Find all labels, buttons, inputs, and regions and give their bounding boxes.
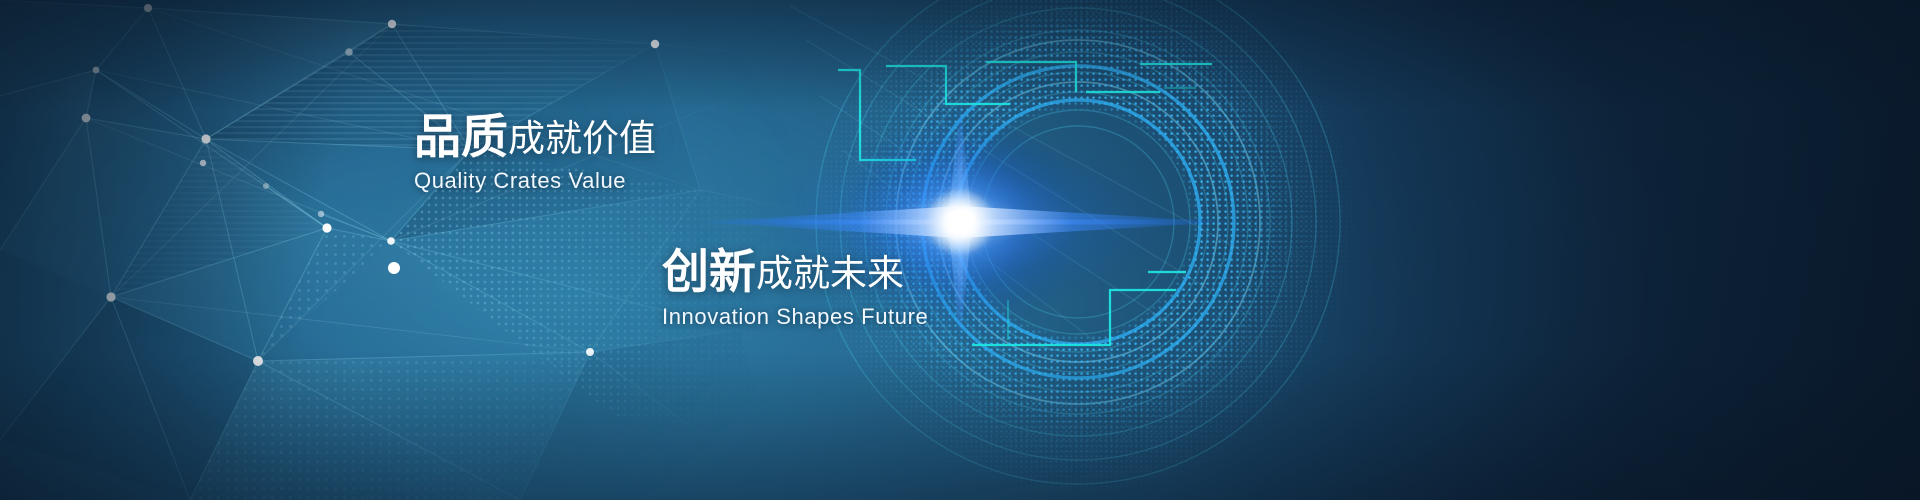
slogan-quality-subline: Quality Crates Value <box>414 168 656 194</box>
slogan-quality-headline-light: 成就价值 <box>508 118 656 159</box>
background-top-shade <box>0 0 1920 500</box>
slogan-innovation-headline-strong: 创新 <box>662 245 756 298</box>
slogan-innovation-subline: Innovation Shapes Future <box>662 304 928 330</box>
slogan-quality-headline: 品质成就价值 <box>414 113 656 160</box>
slogan-quality: 品质成就价值 Quality Crates Value <box>414 113 656 194</box>
slogan-innovation-headline: 创新成就未来 <box>662 248 928 295</box>
slogan-quality-headline-strong: 品质 <box>414 110 508 163</box>
slogan-innovation: 创新成就未来 Innovation Shapes Future <box>662 248 928 330</box>
hero-banner: 品质成就价值 Quality Crates Value 创新成就未来 Innov… <box>0 0 1920 500</box>
slogan-innovation-headline-light: 成就未来 <box>756 253 904 294</box>
